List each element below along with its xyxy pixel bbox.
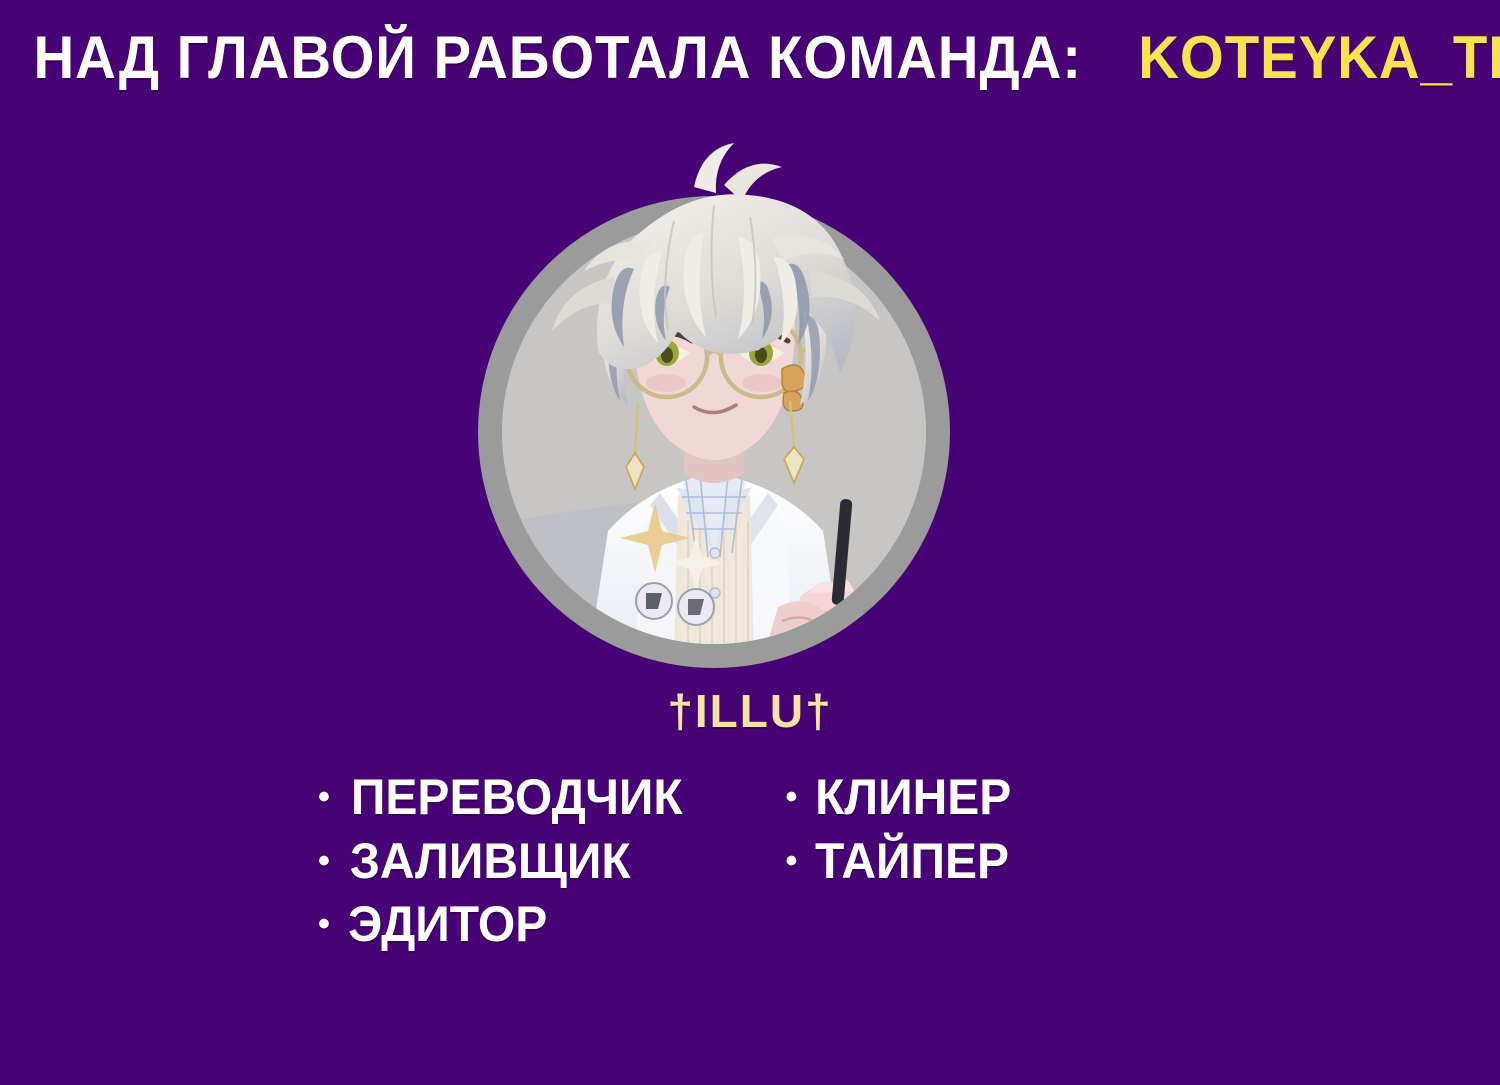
credits-header: НАД ГЛАВОЙ РАБОТАЛА КОМАНДА:KOTEYKA_TEAM bbox=[0, 28, 1500, 88]
list-item: • КЛИНЕР bbox=[786, 766, 1016, 830]
bullet-icon: • bbox=[786, 844, 798, 878]
roles-column-right: • КЛИНЕР • ТАЙПЕР bbox=[786, 766, 1016, 893]
role-label: КЛИНЕР bbox=[816, 766, 1012, 830]
role-label: ЗАЛИВЩИК bbox=[350, 830, 631, 894]
credits-page: НАД ГЛАВОЙ РАБОТАЛА КОМАНДА:KOTEYKA_TEAM bbox=[0, 0, 1500, 1085]
role-label: ТАЙПЕР bbox=[815, 830, 1009, 894]
role-label: ПЕРЕВОДЧИК bbox=[351, 766, 683, 830]
bullet-icon: • bbox=[318, 907, 330, 941]
list-item: • ЭДИТОР bbox=[318, 893, 690, 957]
list-item: • ПЕРЕВОДЧИК bbox=[318, 766, 690, 830]
bullet-icon: • bbox=[318, 844, 330, 878]
roles-list: • ПЕРЕВОДЧИК • ЗАЛИВЩИК • ЭДИТОР • КЛИНЕ… bbox=[318, 766, 1218, 957]
bullet-icon: • bbox=[318, 780, 330, 814]
avatar-inner-circle bbox=[502, 220, 926, 644]
header-team-name: KOTEYKA_TEAM bbox=[1139, 28, 1500, 88]
list-item: • ТАЙПЕР bbox=[786, 830, 1016, 894]
member-nickname: †ILLU† bbox=[0, 688, 1500, 734]
roles-column-left: • ПЕРЕВОДЧИК • ЗАЛИВЩИК • ЭДИТОР bbox=[318, 766, 690, 957]
role-label: ЭДИТОР bbox=[348, 893, 547, 957]
member-avatar bbox=[478, 196, 950, 668]
list-item: • ЗАЛИВЩИК bbox=[318, 830, 690, 894]
bullet-icon: • bbox=[786, 780, 798, 814]
header-prefix-text: НАД ГЛАВОЙ РАБОТАЛА КОМАНДА: bbox=[33, 28, 1082, 88]
